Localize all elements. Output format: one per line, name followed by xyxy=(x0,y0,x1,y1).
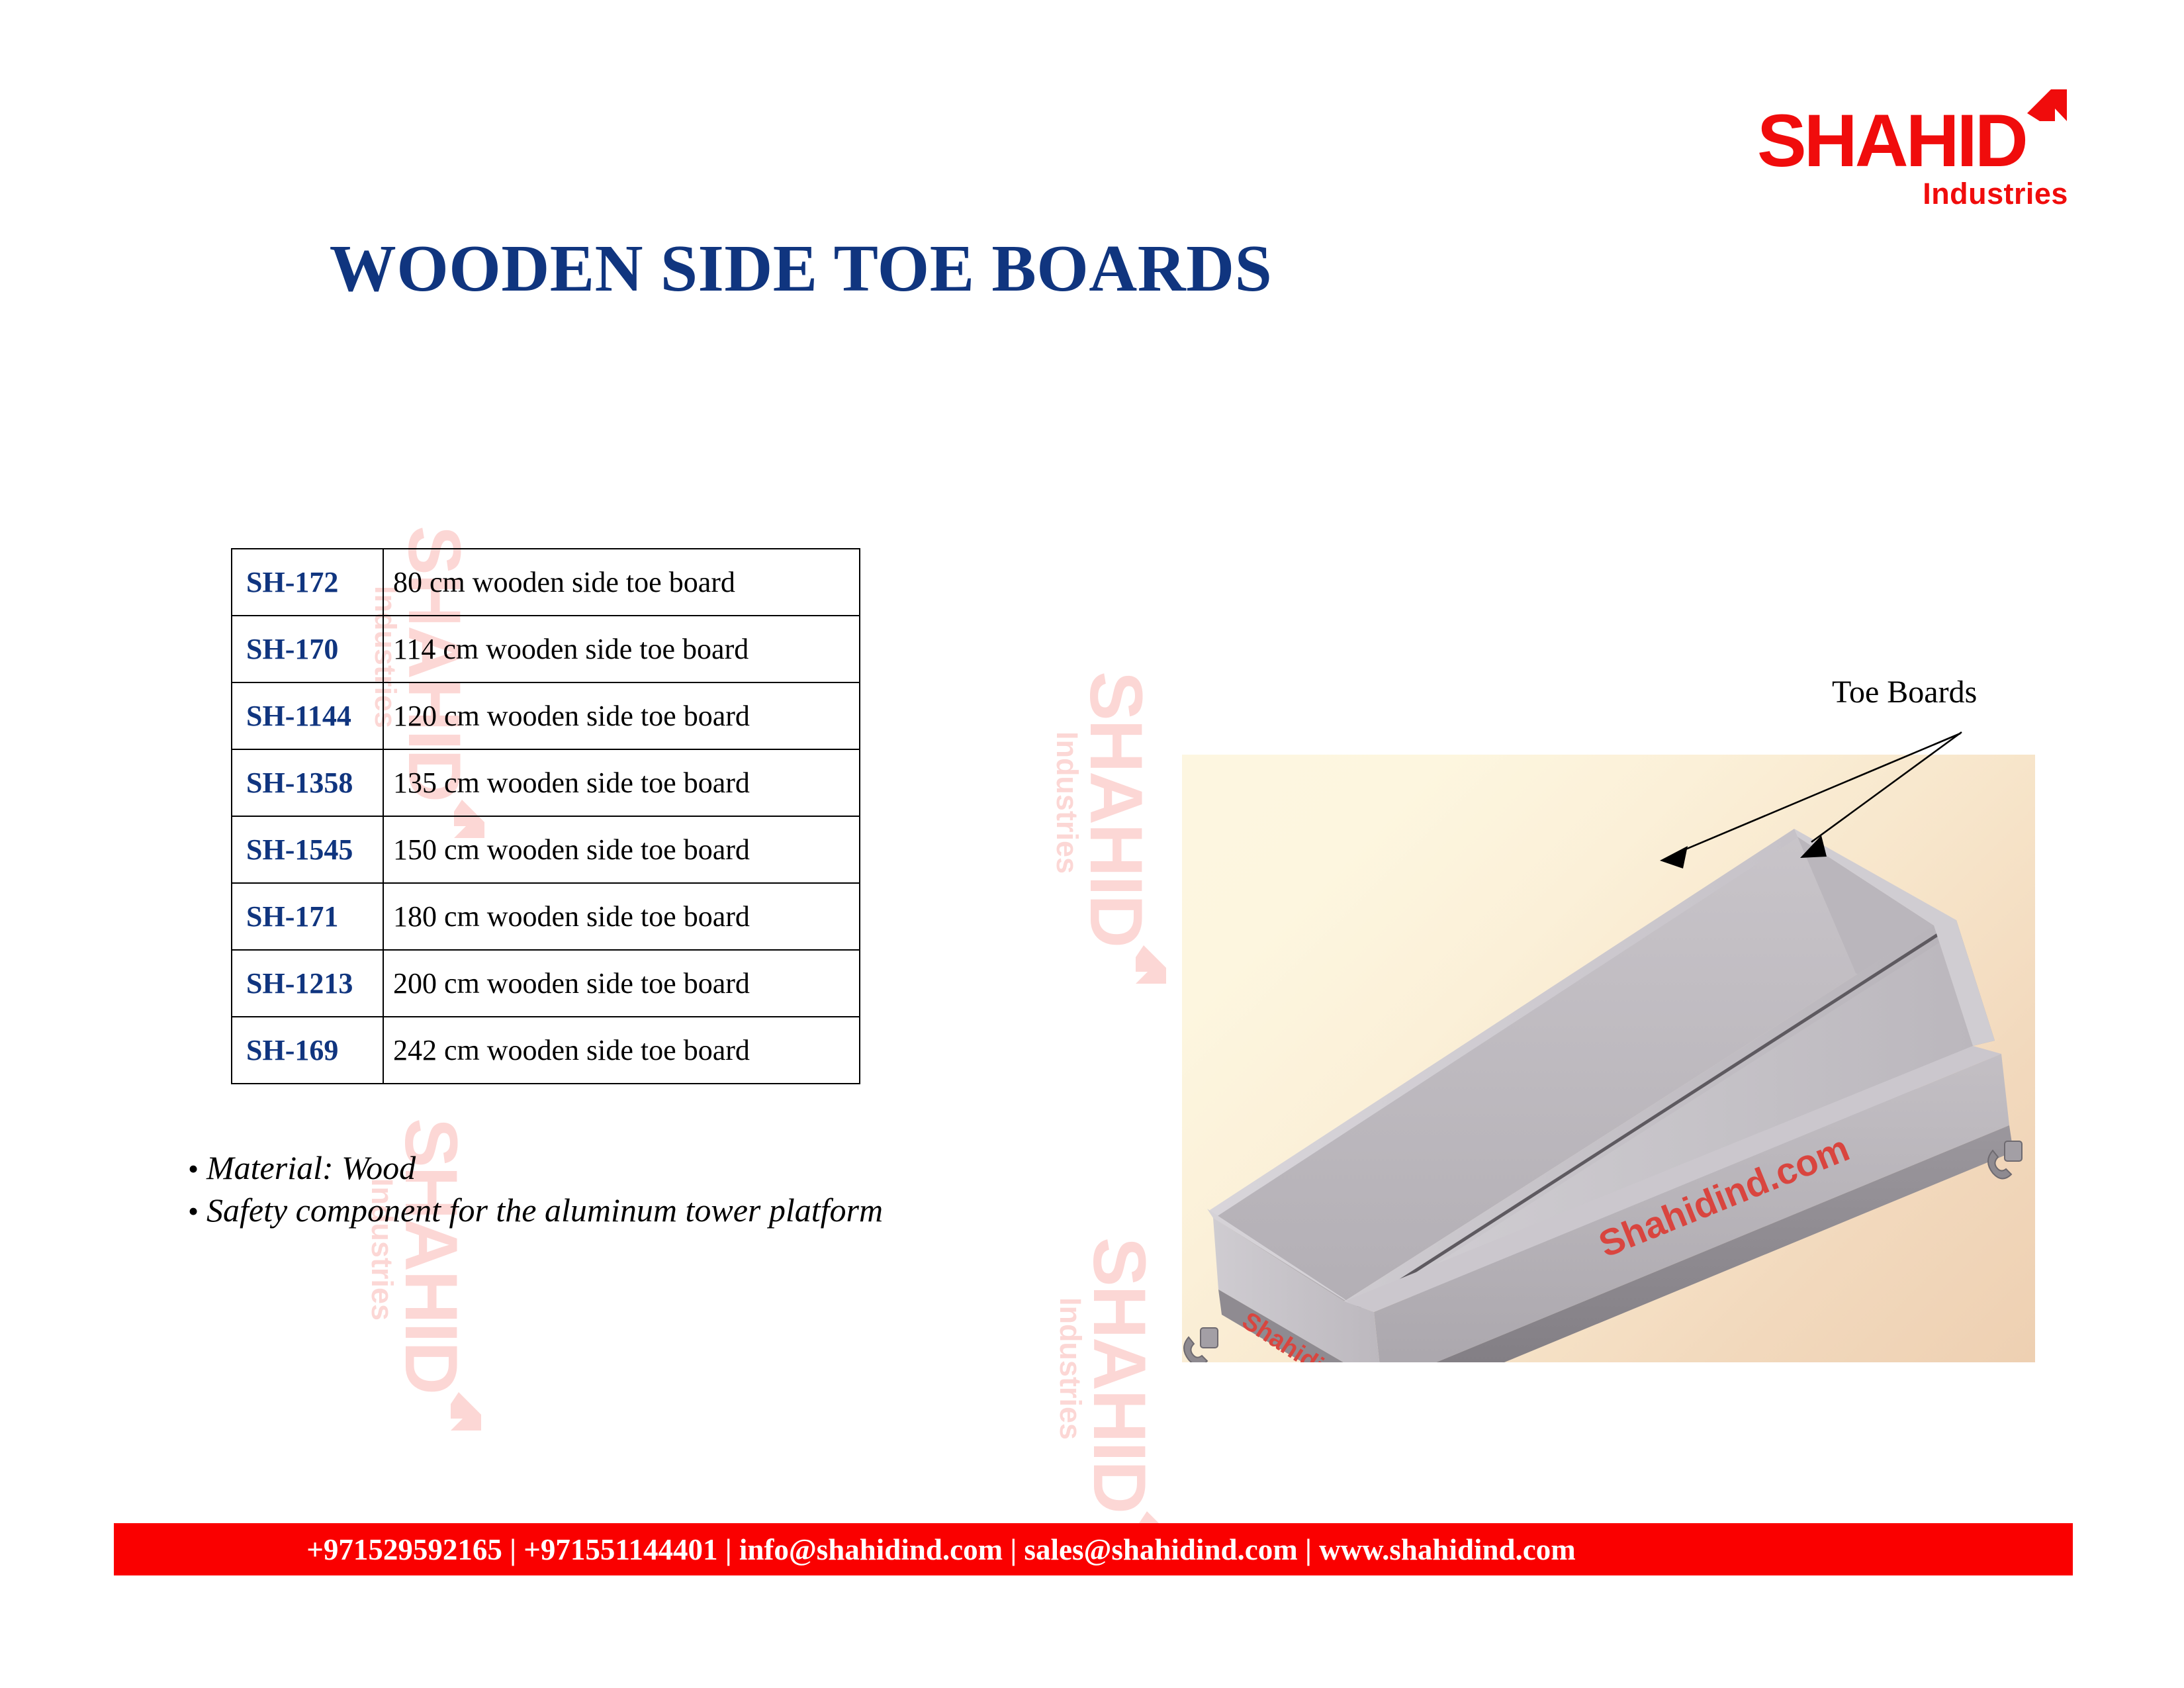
table-row: SH-171 180 cm wooden side toe board xyxy=(232,883,860,950)
product-description: 135 cm wooden side toe board xyxy=(383,749,860,816)
product-image: Shahidind.com Shahidind.com xyxy=(1182,755,2035,1362)
watermark-word: SHAHID xyxy=(1088,1237,1151,1513)
feature-list: • Material: Wood • Safety component for … xyxy=(180,1149,883,1233)
table-row: SH-170 114 cm wooden side toe board xyxy=(232,616,860,682)
callout-label: Toe Boards xyxy=(1832,674,1977,710)
platform-render: Shahidind.com Shahidind.com xyxy=(1182,755,2035,1362)
list-item: • Material: Wood xyxy=(180,1149,883,1187)
product-code: SH-1144 xyxy=(232,682,383,749)
arrow-flag-icon xyxy=(432,1392,463,1432)
product-description: 150 cm wooden side toe board xyxy=(383,816,860,883)
table-row: SH-172 80 cm wooden side toe board xyxy=(232,549,860,616)
product-code: SH-169 xyxy=(232,1017,383,1084)
product-code: SH-171 xyxy=(232,883,383,950)
arrow-flag-icon xyxy=(1117,945,1148,985)
product-description: 114 cm wooden side toe board xyxy=(383,616,860,682)
feature-text: Safety component for the aluminum tower … xyxy=(206,1191,883,1229)
product-code: SH-172 xyxy=(232,549,383,616)
list-item: • Safety component for the aluminum towe… xyxy=(180,1191,883,1229)
table-row: SH-169 242 cm wooden side toe board xyxy=(232,1017,860,1084)
product-description: 242 cm wooden side toe board xyxy=(383,1017,860,1084)
watermark-word: SHAHID xyxy=(1085,671,1148,947)
watermark-center: SHAHID Industries xyxy=(986,655,1211,880)
bullet-icon: • xyxy=(180,1196,206,1227)
table-row: SH-1358 135 cm wooden side toe board xyxy=(232,749,860,816)
brand-logo[interactable]: SHAHID Industries xyxy=(1757,109,2068,211)
brand-name: SHAHID xyxy=(1757,109,2026,173)
watermark-subtitle: Industries xyxy=(1052,731,1082,874)
product-code: SH-1213 xyxy=(232,950,383,1017)
footer-contact-line: +971529592165 | +971551144401 | info@sha… xyxy=(114,1523,1768,1575)
table-row: SH-1213 200 cm wooden side toe board xyxy=(232,950,860,1017)
spec-table: SH-172 80 cm wooden side toe board SH-17… xyxy=(231,548,860,1084)
page-title: WOODEN SIDE TOE BOARDS xyxy=(0,230,1602,306)
product-description: 200 cm wooden side toe board xyxy=(383,950,860,1017)
product-description: 180 cm wooden side toe board xyxy=(383,883,860,950)
product-description: 80 cm wooden side toe board xyxy=(383,549,860,616)
arrow-flag-icon xyxy=(2026,109,2068,140)
table-row: SH-1545 150 cm wooden side toe board xyxy=(232,816,860,883)
product-description: 120 cm wooden side toe board xyxy=(383,682,860,749)
brand-tagline: Industries xyxy=(1757,177,2068,211)
product-code: SH-1545 xyxy=(232,816,383,883)
watermark-bottom-center: SHAHID Industries xyxy=(989,1221,1214,1446)
product-code: SH-1358 xyxy=(232,749,383,816)
product-code: SH-170 xyxy=(232,616,383,682)
table-row: SH-1144 120 cm wooden side toe board xyxy=(232,682,860,749)
feature-text: Material: Wood xyxy=(206,1149,416,1187)
bullet-icon: • xyxy=(180,1154,206,1184)
watermark-subtitle: Industries xyxy=(1056,1297,1085,1440)
